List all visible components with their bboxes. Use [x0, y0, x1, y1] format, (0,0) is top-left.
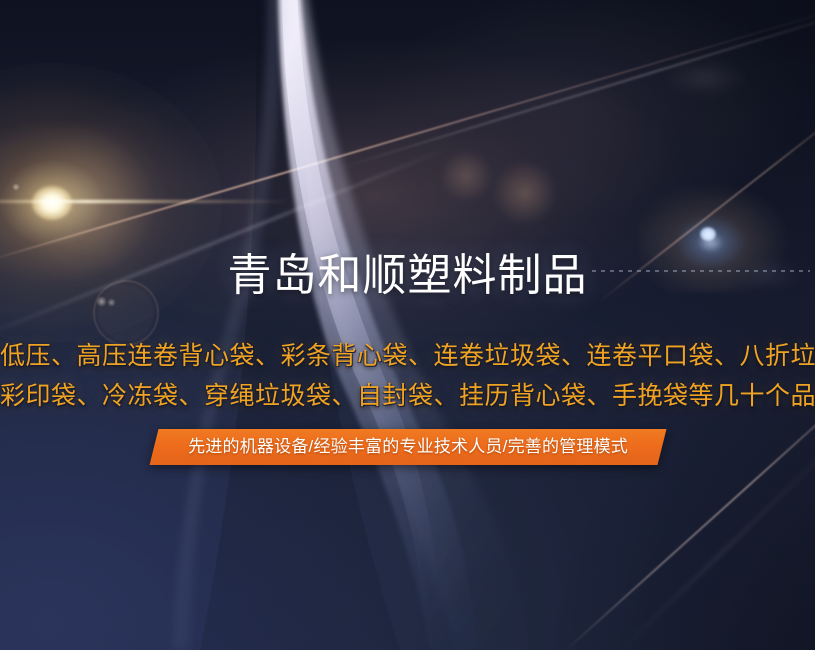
tagline-container: 先进的机器设备/经验丰富的专业技术人员/完善的管理模式: [0, 429, 815, 465]
product-list: 低压、高压连卷背心袋、彩条背心袋、连卷垃圾袋、连卷平口袋、八折垃圾袋、 彩印袋、…: [0, 336, 815, 416]
banner-title: 青岛和顺塑料制品: [0, 250, 815, 302]
promo-banner: 青岛和顺塑料制品 低压、高压连卷背心袋、彩条背心袋、连卷垃圾袋、连卷平口袋、八折…: [0, 0, 815, 650]
product-line-1: 低压、高压连卷背心袋、彩条背心袋、连卷垃圾袋、连卷平口袋、八折垃圾袋、: [0, 336, 815, 376]
product-line-2: 彩印袋、冷冻袋、穿绳垃圾袋、自封袋、挂历背心袋、手挽袋等几十个品种: [0, 376, 815, 416]
tagline-text: 先进的机器设备/经验丰富的专业技术人员/完善的管理模式: [188, 434, 628, 459]
banner-content: 青岛和顺塑料制品 低压、高压连卷背心袋、彩条背心袋、连卷垃圾袋、连卷平口袋、八折…: [0, 0, 815, 650]
tagline-badge: 先进的机器设备/经验丰富的专业技术人员/完善的管理模式: [149, 429, 666, 465]
